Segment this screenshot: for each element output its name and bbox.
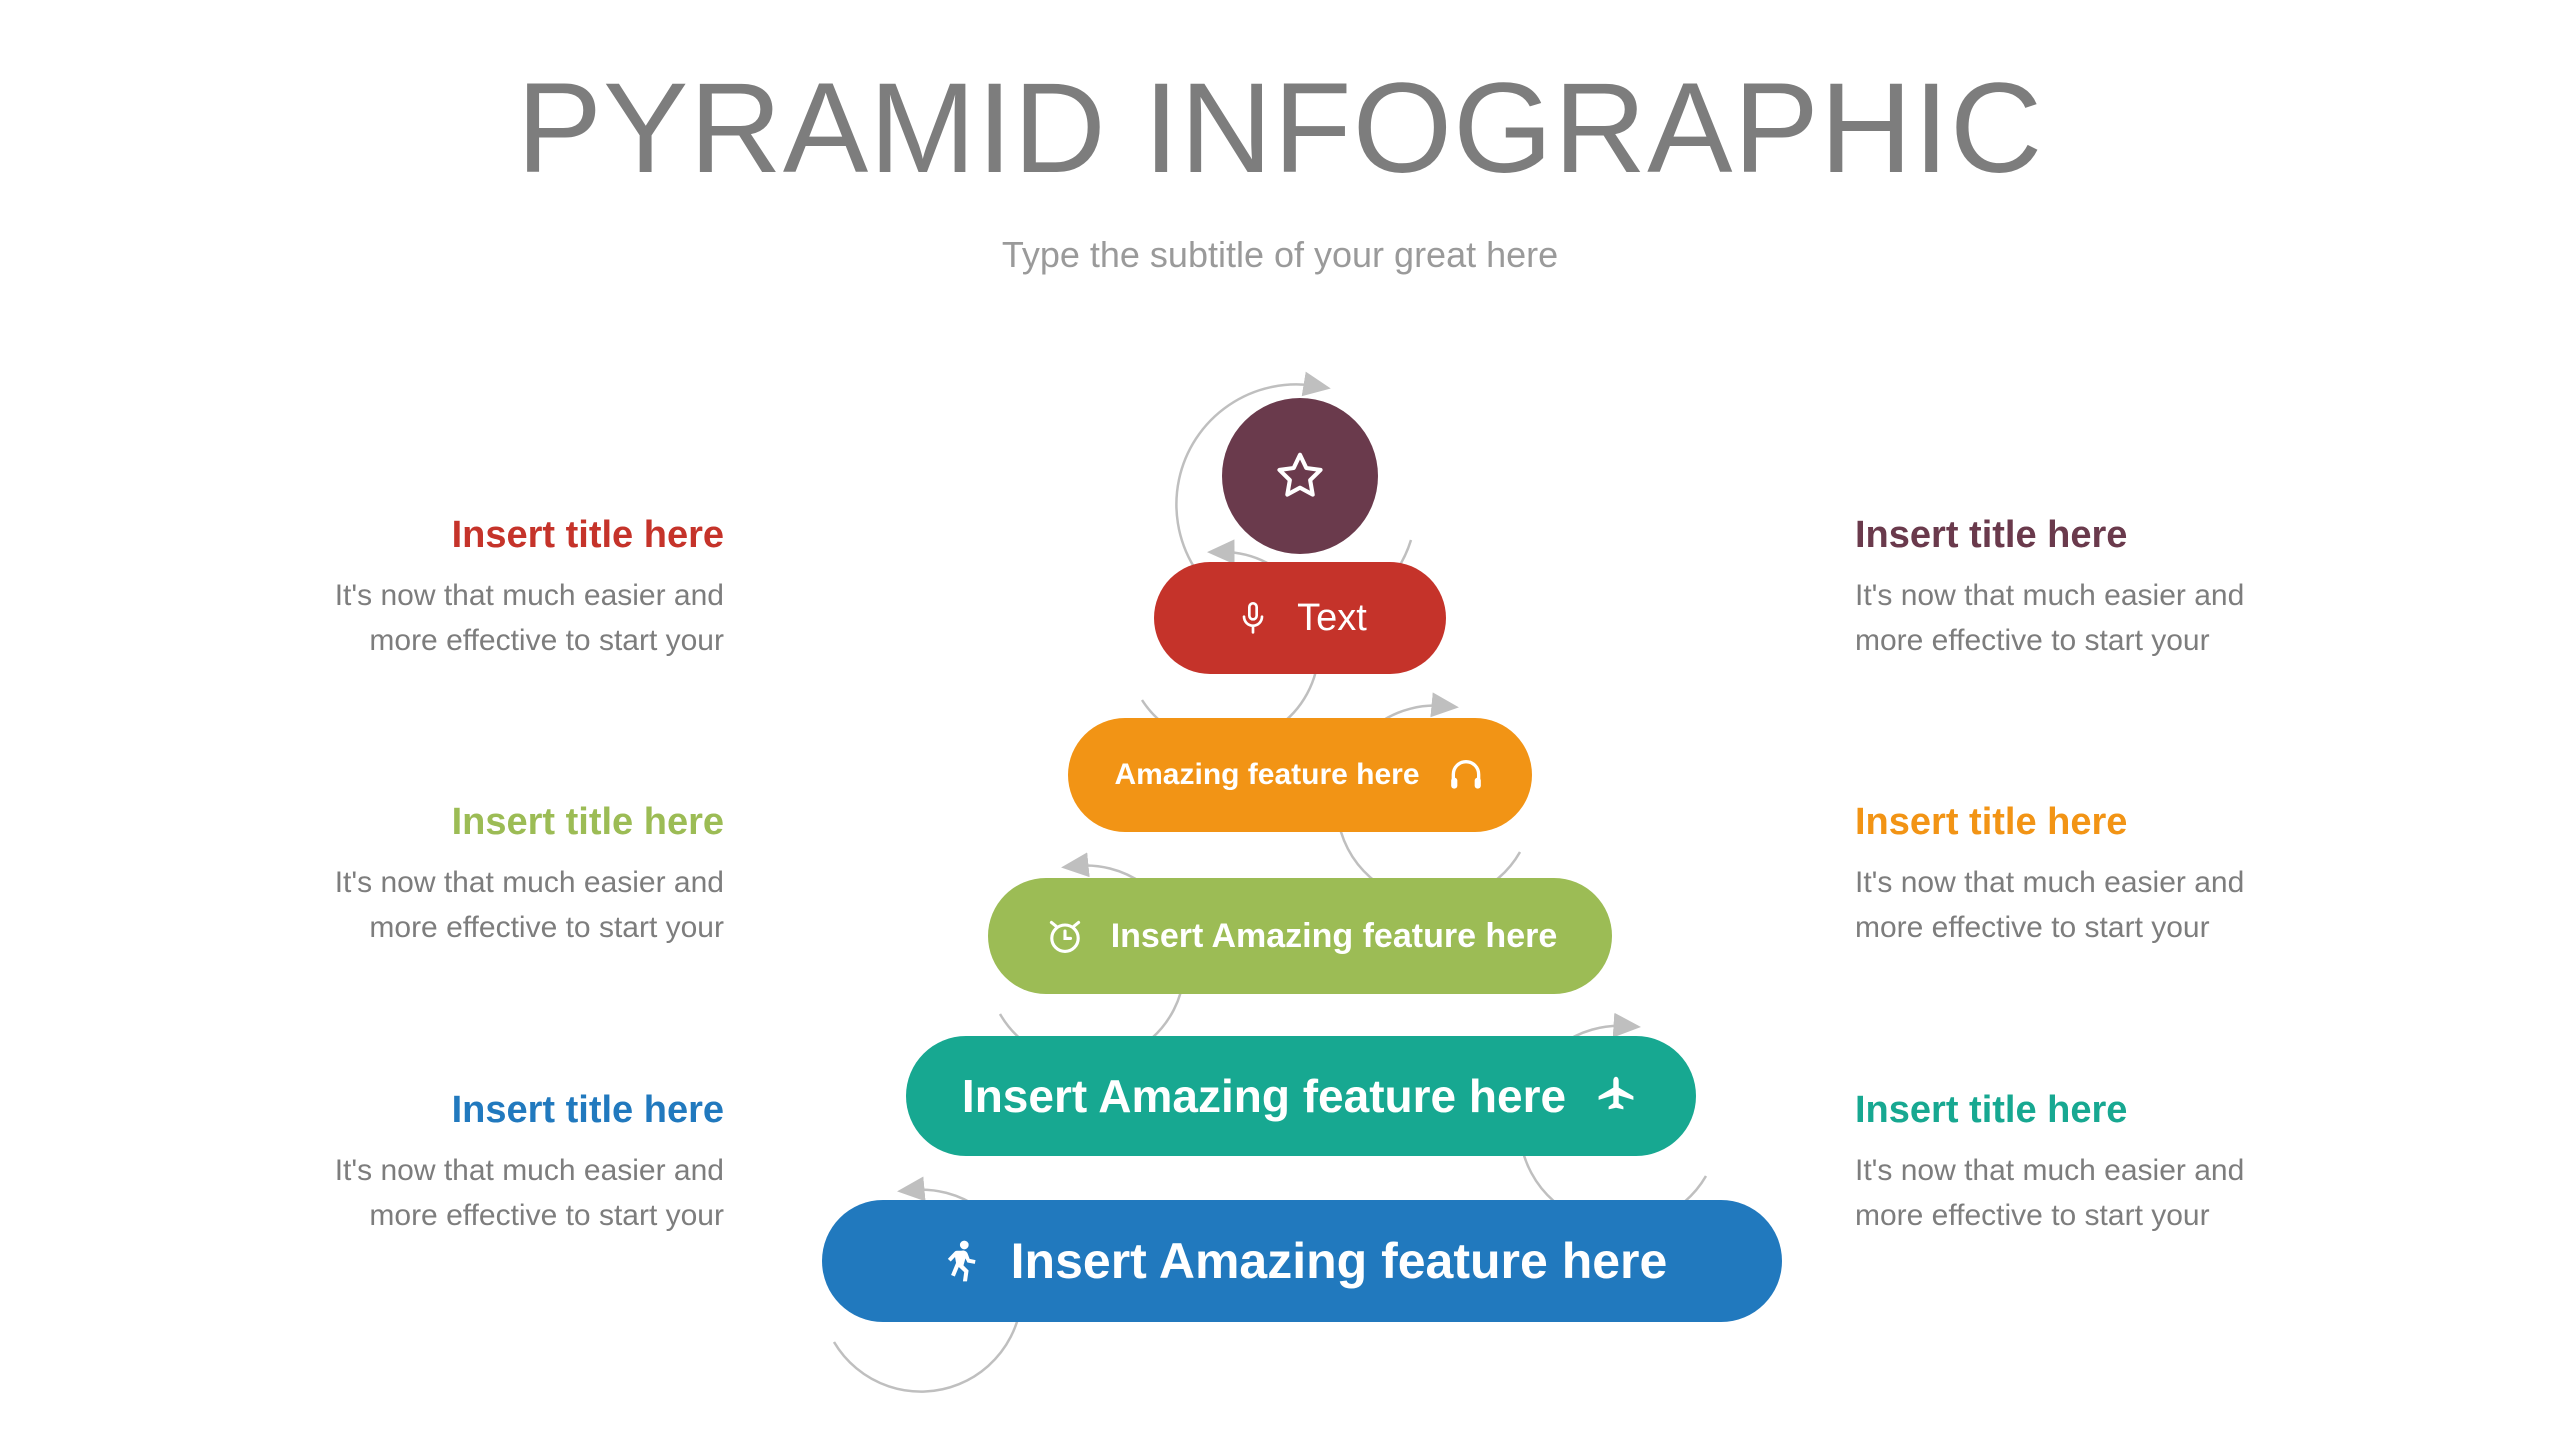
left-text-block-3: Insert title here It's now that much eas… — [284, 1090, 724, 1239]
left-block-1-title: Insert title here — [284, 515, 724, 557]
slide-canvas: PYRAMID INFOGRAPHIC Type the subtitle of… — [0, 0, 2560, 1440]
walking-person-icon — [937, 1236, 987, 1286]
right-block-3-title: Insert title here — [1855, 1090, 2295, 1132]
pyramid-level-2[interactable]: Amazing feature here — [1068, 718, 1532, 832]
right-block-1-body: It's now that much easier and more effec… — [1855, 573, 2295, 664]
left-text-block-2: Insert title here It's now that much eas… — [284, 802, 724, 951]
alarm-clock-icon — [1043, 914, 1087, 958]
pyramid-level-3[interactable]: Insert Amazing feature here — [988, 878, 1612, 994]
left-block-3-body: It's now that much easier and more effec… — [284, 1148, 724, 1239]
left-block-2-body: It's now that much easier and more effec… — [284, 860, 724, 951]
pyramid-level-1[interactable]: Text — [1154, 562, 1446, 674]
left-text-block-1: Insert title here It's now that much eas… — [284, 515, 724, 664]
right-text-block-2: Insert title here It's now that much eas… — [1855, 802, 2295, 951]
pyramid-level-1-label: Text — [1297, 597, 1367, 640]
right-block-1-title: Insert title here — [1855, 515, 2295, 557]
pyramid-level-5[interactable]: Insert Amazing feature here — [822, 1200, 1782, 1322]
right-text-block-1: Insert title here It's now that much eas… — [1855, 515, 2295, 664]
headphones-icon — [1446, 755, 1486, 795]
right-block-2-title: Insert title here — [1855, 802, 2295, 844]
pyramid-level-0[interactable] — [1222, 398, 1378, 554]
pyramid-level-4-label: Insert Amazing feature here — [962, 1069, 1566, 1123]
left-block-1-body: It's now that much easier and more effec… — [284, 573, 724, 664]
pyramid-level-5-label: Insert Amazing feature here — [1011, 1232, 1668, 1290]
right-text-block-3: Insert title here It's now that much eas… — [1855, 1090, 2295, 1239]
pyramid-level-2-label: Amazing feature here — [1114, 758, 1419, 792]
left-block-2-title: Insert title here — [284, 802, 724, 844]
pyramid-level-3-label: Insert Amazing feature here — [1111, 917, 1558, 956]
right-block-2-body: It's now that much easier and more effec… — [1855, 860, 2295, 951]
star-icon — [1271, 447, 1329, 505]
pyramid-level-4[interactable]: Insert Amazing feature here — [906, 1036, 1696, 1156]
microphone-icon — [1233, 598, 1273, 638]
right-block-3-body: It's now that much easier and more effec… — [1855, 1148, 2295, 1239]
airplane-icon — [1592, 1072, 1640, 1120]
left-block-3-title: Insert title here — [284, 1090, 724, 1132]
